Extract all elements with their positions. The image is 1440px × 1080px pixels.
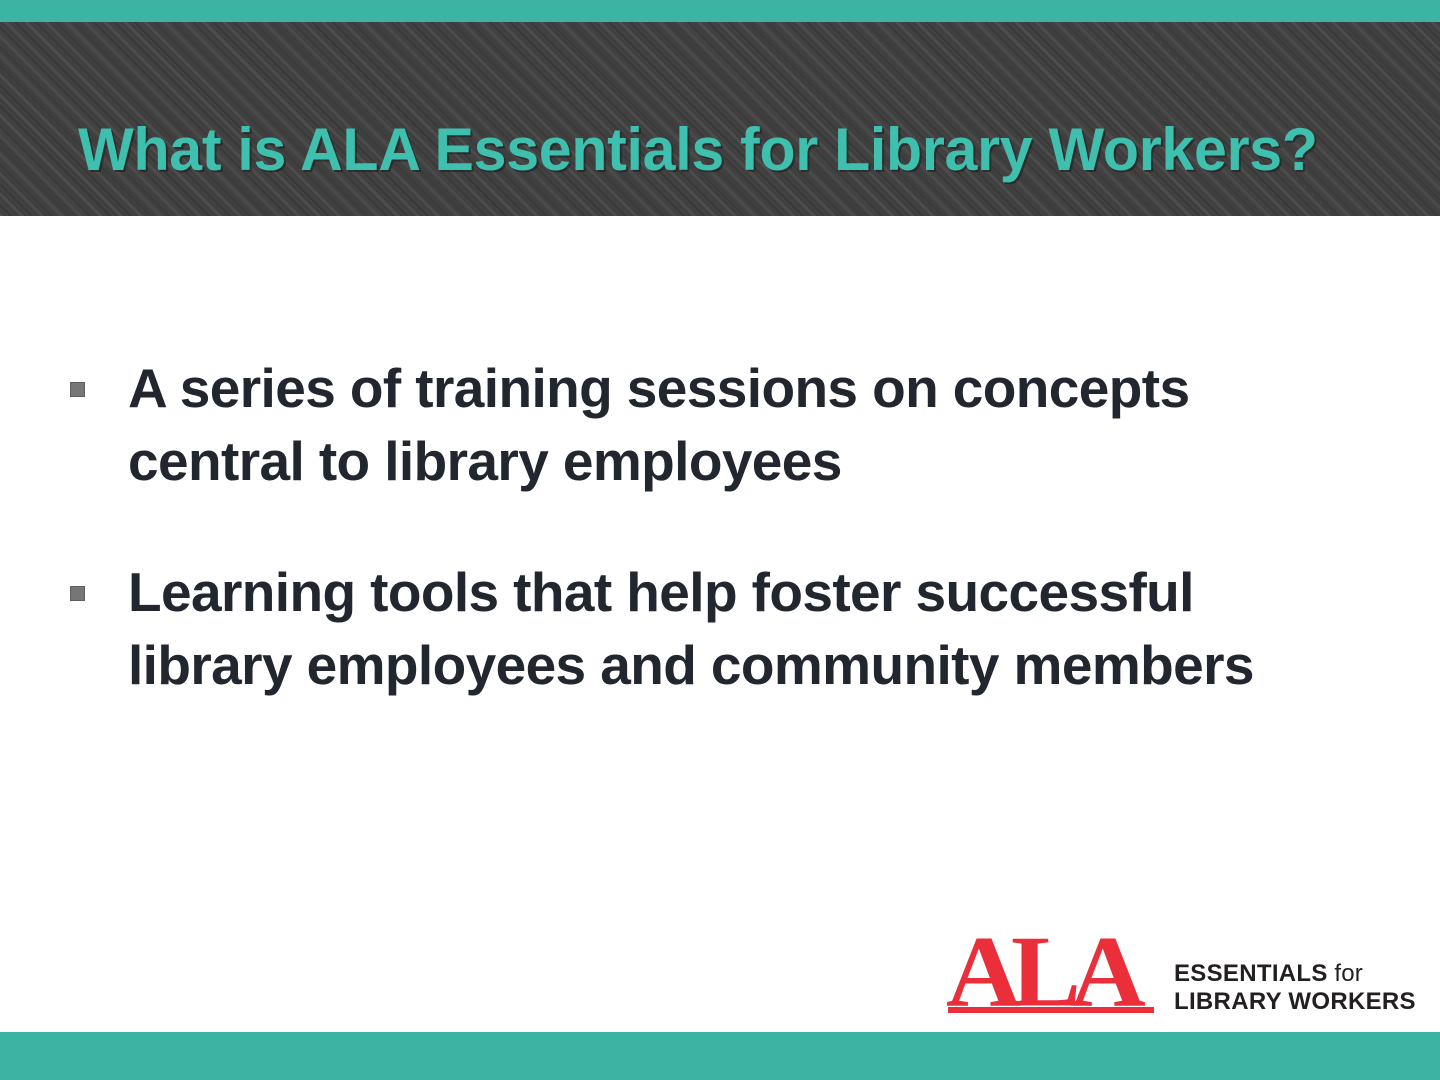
bottom-accent-bar: [0, 1032, 1440, 1080]
ala-tagline-library-workers: LIBRARY WORKERS: [1174, 988, 1416, 1015]
ala-tagline: ESSENTIALS for LIBRARY WORKERS: [1174, 960, 1416, 1017]
slide-canvas: What is ALA Essentials for Library Worke…: [0, 0, 1440, 1080]
ala-tagline-line-2: LIBRARY WORKERS: [1174, 988, 1416, 1016]
list-item: A series of training sessions on concept…: [70, 352, 1370, 498]
top-accent-bar: [0, 0, 1440, 22]
square-bullet-icon: [70, 586, 85, 601]
ala-tagline-for: for: [1334, 960, 1363, 987]
list-item: Learning tools that help foster successf…: [70, 556, 1370, 702]
bullet-list: A series of training sessions on concept…: [70, 352, 1370, 703]
page-title: What is ALA Essentials for Library Worke…: [78, 120, 1388, 180]
ala-tagline-essentials: ESSENTIALS: [1174, 960, 1328, 987]
ala-tagline-line-1: ESSENTIALS for: [1174, 960, 1416, 988]
ala-logo: ALA ESSENTIALS for LIBRARY WORKERS: [946, 924, 1406, 1016]
square-bullet-icon: [70, 382, 85, 397]
ala-underline-rule: [948, 1007, 1154, 1013]
list-item-label: A series of training sessions on concept…: [128, 352, 1268, 498]
list-item-label: Learning tools that help foster successf…: [128, 556, 1268, 702]
